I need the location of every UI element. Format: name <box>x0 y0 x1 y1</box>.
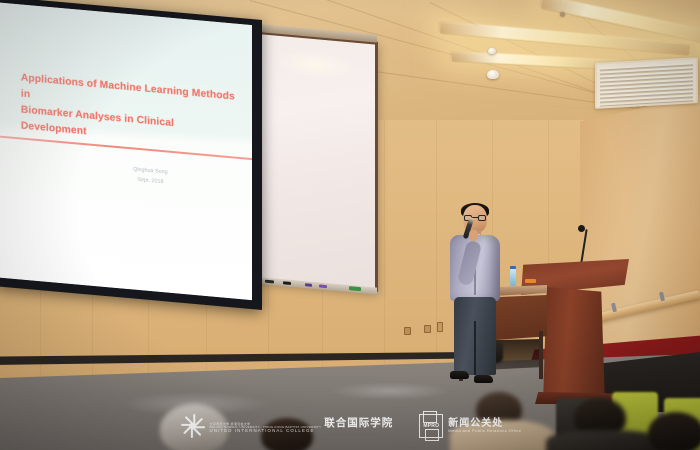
floor-reflection <box>330 382 450 400</box>
presenter-shoe <box>474 375 493 383</box>
whiteboard <box>250 30 378 291</box>
whiteboard-marker <box>319 284 327 288</box>
ceiling-fitting <box>560 12 565 17</box>
audience-shoulders <box>546 430 664 450</box>
presenter <box>438 203 512 398</box>
wall-power-outlet <box>424 325 431 333</box>
audience-shoulders <box>450 420 554 450</box>
audience-member <box>140 404 250 450</box>
audience-member <box>648 412 700 450</box>
smoke-detector <box>487 70 499 79</box>
presenter-hand <box>469 230 478 241</box>
audience-head <box>648 412 700 450</box>
wall-power-outlet <box>404 327 411 335</box>
audience-member <box>556 398 656 450</box>
smoke-detector <box>488 48 496 54</box>
lecture-hall-photo: Applications of Machine Learning Methods… <box>0 0 700 450</box>
presentation-slide: Applications of Machine Learning Methods… <box>0 2 252 300</box>
table-leg <box>539 331 543 379</box>
microphone-head-icon <box>578 225 585 232</box>
whiteboard-marker <box>305 283 312 287</box>
presenter-shoe <box>450 371 469 379</box>
desk-object <box>525 279 536 283</box>
hvac-vent-grille <box>595 57 698 109</box>
trouser-seam <box>474 321 476 375</box>
whiteboard-glare <box>275 48 356 82</box>
screen-surface: Applications of Machine Learning Methods… <box>0 2 252 300</box>
audience-head <box>261 418 313 450</box>
slide-subtitle: Qinghua Song Sept. 2018 <box>84 160 216 192</box>
audience-member <box>462 392 552 450</box>
podium-body <box>543 287 605 404</box>
audience-member <box>255 418 325 450</box>
projection-screen: Applications of Machine Learning Methods… <box>0 0 262 310</box>
whiteboard-marker <box>283 281 291 285</box>
audience-head <box>160 404 228 450</box>
